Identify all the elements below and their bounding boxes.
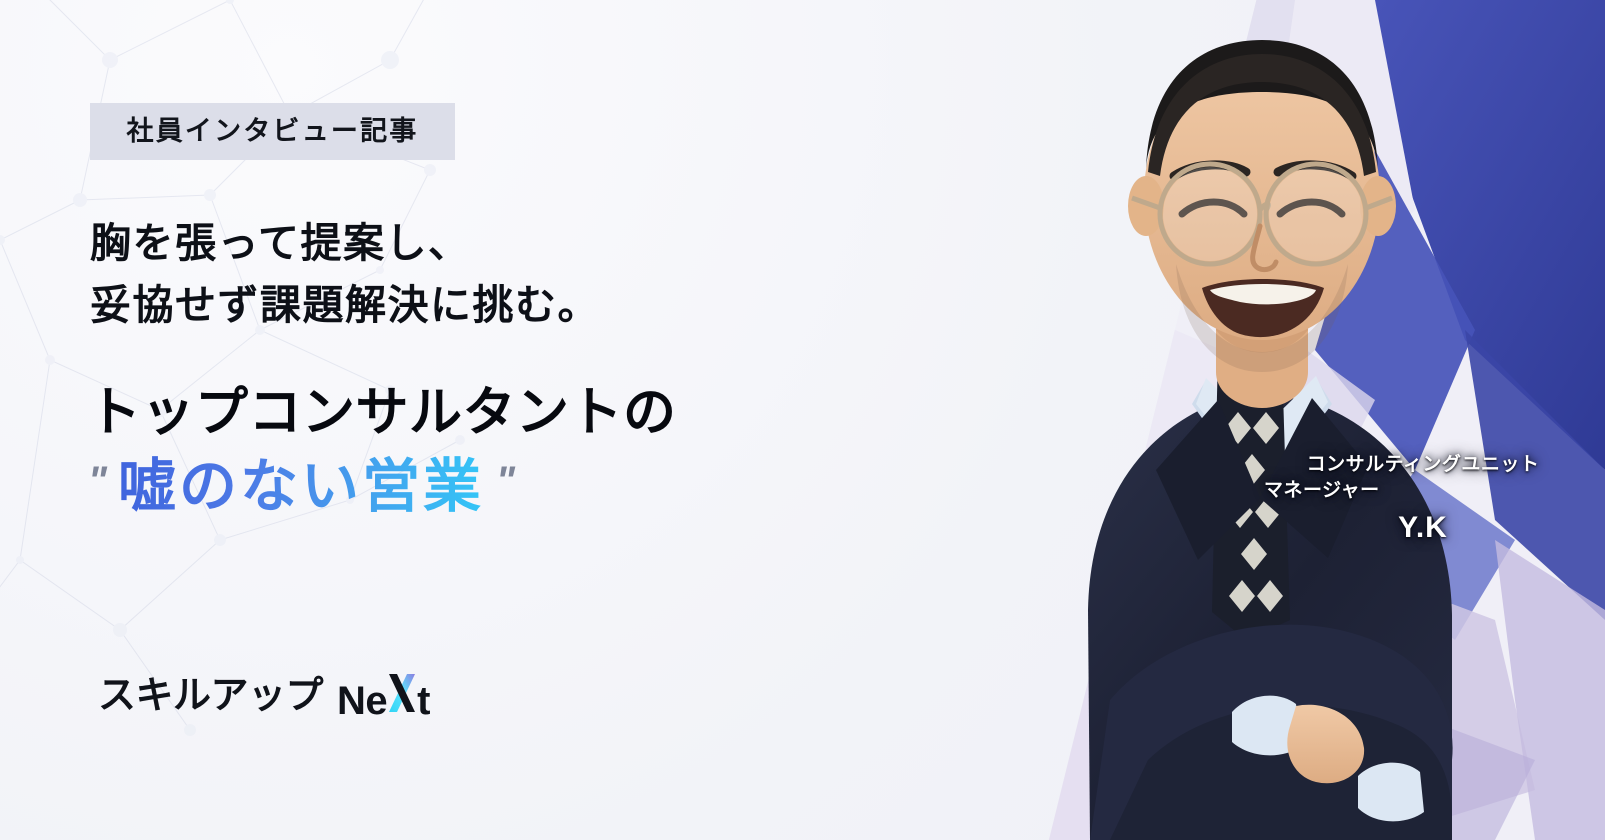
article-category-badge: 社員インタビュー記事 bbox=[90, 103, 455, 160]
company-logo[interactable]: スキルアップ Ne bbox=[98, 672, 430, 720]
content-column: 社員インタビュー記事 胸を張って提案し、 妥協せず課題解決に挑む。 トップコンサ… bbox=[0, 0, 900, 840]
badge-label: 社員インタビュー記事 bbox=[127, 118, 419, 145]
logo-en-prefix: Ne bbox=[337, 681, 387, 721]
logo-x-icon bbox=[387, 672, 417, 714]
subheading-line-2: 妥協せず課題解決に挑む。 bbox=[90, 274, 850, 336]
subheading: 胸を張って提案し、 妥協せず課題解決に挑む。 bbox=[90, 212, 850, 337]
logo-japanese-text: スキルアップ bbox=[98, 677, 323, 715]
person-role-line-2: マネージャー bbox=[1258, 478, 1588, 504]
person-name: Y.K bbox=[1258, 511, 1588, 544]
logo-english-text: Ne t bbox=[337, 672, 430, 721]
main-heading: トップコンサルタントの " 嘘のない営業 " bbox=[88, 382, 878, 520]
interview-banner: 社員インタビュー記事 胸を張って提案し、 妥協せず課題解決に挑む。 トップコンサ… bbox=[0, 0, 1605, 840]
subheading-line-1: 胸を張って提案し、 bbox=[90, 212, 850, 274]
quote-close-mark: " bbox=[496, 461, 516, 501]
main-heading-line-1: トップコンサルタントの bbox=[88, 382, 878, 443]
person-caption: コンサルティングユニット マネージャー Y.K bbox=[1258, 452, 1588, 544]
logo-en-suffix: t bbox=[417, 681, 430, 721]
main-heading-highlight: 嘘のない営業 bbox=[118, 455, 484, 520]
main-heading-line-2: " 嘘のない営業 " bbox=[88, 455, 878, 520]
quote-open-mark: " bbox=[88, 461, 108, 501]
person-role-line-1: コンサルティングユニット bbox=[1258, 452, 1588, 478]
